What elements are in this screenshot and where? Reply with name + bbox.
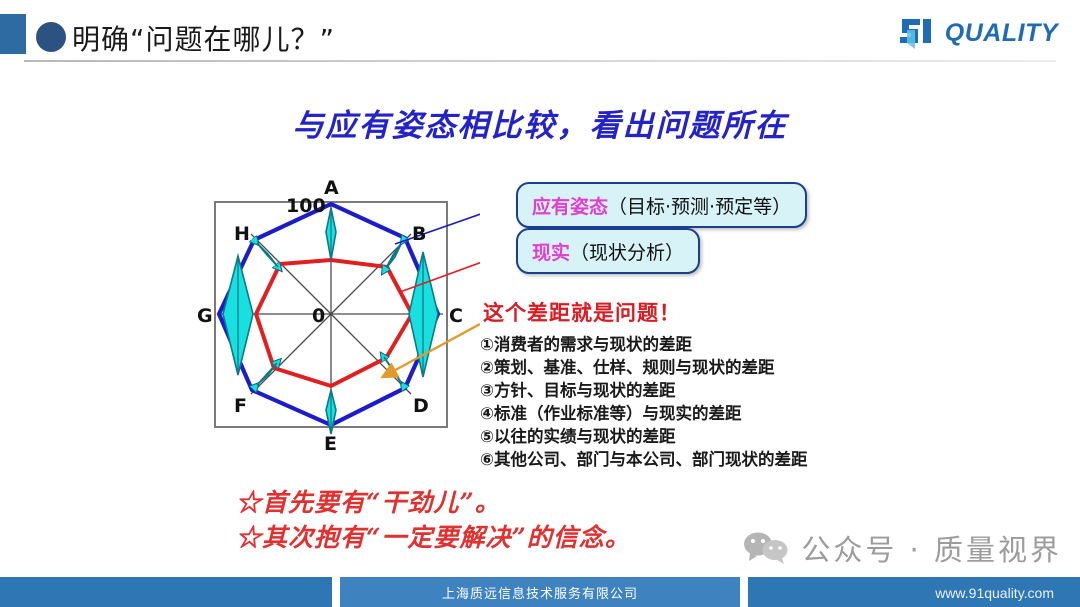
gap-list: ①消费者的需求与现状的差距 ②策划、基准、仕样、规则与现状的差距 ③方针、目标与… <box>480 333 807 471</box>
callout-should-rest: （目标·预测·预定等） <box>608 192 791 219</box>
header-accent-bar <box>0 14 26 54</box>
svg-text:D: D <box>413 395 429 417</box>
slide-footer: 上海质远信息技术服务有限公司 www.91quality.com <box>0 577 1080 607</box>
list-item: ②策划、基准、仕样、规则与现状的差距 <box>480 356 807 379</box>
slogan-line-2: ☆其次抱有“一定要解决”的信念。 <box>236 518 631 554</box>
slide-root: 明确“问题在哪儿？” QUALITY 与应有姿态相比较，看出问题所在 <box>0 0 1080 607</box>
svg-text:A: A <box>324 177 339 199</box>
svg-text:H: H <box>234 223 250 245</box>
list-item: ⑥其他公司、部门与本公司、部门现状的差距 <box>480 448 807 471</box>
chart-scale-max-label: 100 <box>286 195 326 217</box>
wechat-icon <box>743 531 789 565</box>
svg-text:G: G <box>197 305 213 327</box>
callout-should: 应有姿态 （目标·预测·预定等） <box>516 182 807 228</box>
footer-url: www.91quality.com <box>935 585 1054 601</box>
callout-should-keyword: 应有姿态 <box>532 192 608 219</box>
slogan-line-1: ☆首先要有“干劲儿”。 <box>236 483 501 519</box>
callout-real: 现实 （现状分析） <box>516 228 700 274</box>
slide-header: 明确“问题在哪儿？” QUALITY <box>0 0 1080 64</box>
main-title: 与应有姿态相比较，看出问题所在 <box>0 100 1080 145</box>
footer-company-label: 上海质远信息技术服务有限公司 <box>442 583 638 602</box>
radar-gap-chart: A B C D E F G H 100 0 <box>190 172 480 457</box>
circle-bullet-icon <box>36 22 66 52</box>
footer-bar-left <box>0 577 332 607</box>
list-item: ④标准（作业标准等）与现实的差距 <box>480 402 807 425</box>
header-divider <box>24 60 1056 62</box>
svg-text:E: E <box>324 433 337 455</box>
footer-company: 上海质远信息技术服务有限公司 <box>340 577 740 607</box>
watermark-text: 公众号 · 质量视界 <box>801 527 1062 569</box>
list-item: ①消费者的需求与现状的差距 <box>480 333 807 356</box>
svg-text:C: C <box>449 305 463 327</box>
svg-text:B: B <box>412 223 426 245</box>
callout-real-keyword: 现实 <box>532 238 570 265</box>
logo-text: QUALITY <box>945 19 1058 48</box>
series-real-polygon <box>256 260 412 386</box>
gap-heading: 这个差距就是问题！ <box>483 297 681 327</box>
svg-text:F: F <box>234 395 247 417</box>
list-item: ⑤以往的实绩与现状的差距 <box>480 425 807 448</box>
page-title: 明确“问题在哪儿？” <box>72 18 335 58</box>
watermark: 公众号 · 质量视界 <box>743 527 1062 569</box>
list-item: ③方针、目标与现状的差距 <box>480 379 807 402</box>
91-logo-mark-icon <box>898 16 938 50</box>
chart-center-label: 0 <box>312 305 325 327</box>
brand-logo: QUALITY <box>898 14 1058 52</box>
callout-real-rest: （现状分析） <box>570 238 684 265</box>
